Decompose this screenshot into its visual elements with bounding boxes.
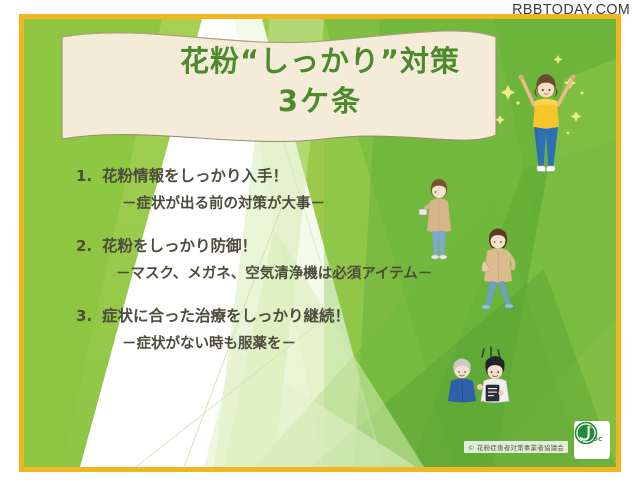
- slide-frame: 花粉“しっかり”対策 3ケ条 1. 花粉情報をしっかり入手！ －症状が出る前の対…: [19, 14, 621, 472]
- slide-canvas: 花粉“しっかり”対策 3ケ条 1. 花粉情報をしっかり入手！ －症状が出る前の対…: [24, 19, 616, 467]
- tip-2-title: 花粉をしっかり防御！: [102, 235, 257, 258]
- tip-item-2: 2. 花粉をしっかり防御！ －マスク、メガネ、空気清浄機は必須アイテム－: [76, 235, 516, 285]
- tip-3-title: 症状に合った治療をしっかり継続！: [102, 305, 350, 328]
- tip-item-1: 1. 花粉情報をしっかり入手！ －症状が出る前の対策が大事－: [76, 165, 516, 215]
- site-watermark: RBBTODAY.COM: [512, 1, 630, 18]
- tip-1-number: 1.: [76, 165, 102, 188]
- tip-2-heading: 2. 花粉をしっかり防御！: [76, 235, 516, 258]
- japoc-j-mark-icon: [574, 421, 598, 445]
- copyright-credit: © 花粉症患者対策事業者協議会: [464, 441, 568, 453]
- tip-1-subtitle: －症状が出る前の対策が大事－: [76, 193, 516, 215]
- title-banner: [62, 31, 496, 142]
- slide-screenshot: RBBTODAY.COM: [0, 0, 640, 489]
- tip-item-3: 3. 症状に合った治療をしっかり継続！ －症状がない時も服薬を－: [76, 305, 516, 355]
- tip-3-number: 3.: [76, 305, 102, 328]
- tip-3-subtitle: －症状がない時も服薬を－: [76, 333, 516, 355]
- clipboard-prop: [486, 385, 499, 401]
- tip-2-subtitle: －マスク、メガネ、空気清浄機は必須アイテム－: [76, 263, 516, 285]
- tip-1-title: 花粉情報をしっかり入手！: [102, 165, 288, 188]
- tip-1-heading: 1. 花粉情報をしっかり入手！: [76, 165, 516, 188]
- tips-list: 1. 花粉情報をしっかり入手！ －症状が出る前の対策が大事－ 2. 花粉をしっか…: [76, 165, 516, 375]
- tip-3-heading: 3. 症状に合った治療をしっかり継続！: [76, 305, 516, 328]
- japoc-logo: JAPOC: [574, 421, 610, 459]
- tip-2-number: 2.: [76, 235, 102, 258]
